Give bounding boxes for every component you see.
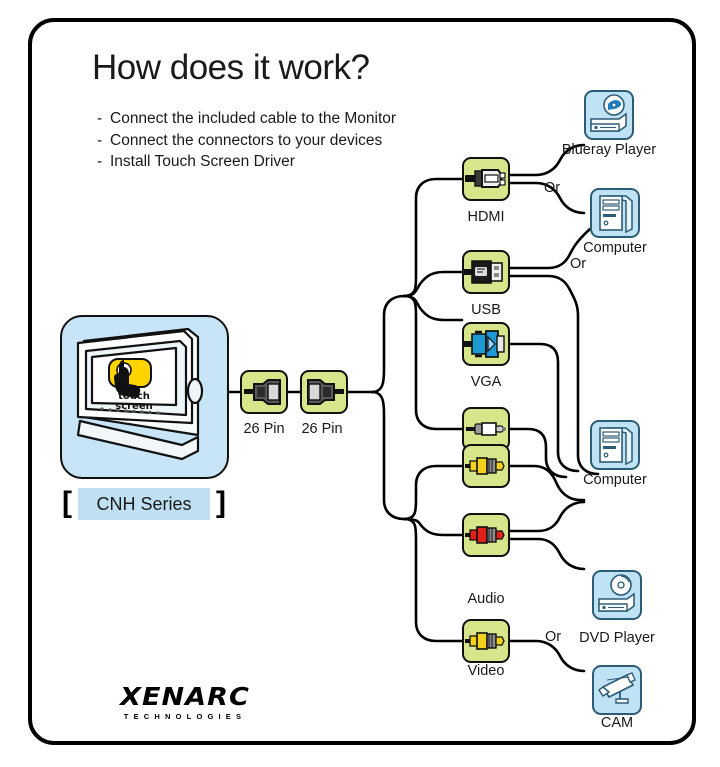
device-tile-cam[interactable] [592,665,642,715]
instruction-item: -Connect the included cable to the Monit… [97,108,396,130]
blueray-player-icon [586,92,632,138]
instruction-item: -Connect the connectors to your devices [97,130,396,152]
series-label-group: [ CNH Series ] [60,488,228,520]
connector-label-hdmi: HDMI [431,209,541,225]
series-label: CNH Series [60,488,228,520]
device-label-dvd-player: DVD Player [542,630,692,646]
device-tile-computer-2[interactable] [590,420,640,470]
hdmi-connector-icon [464,159,508,199]
connector-tile-usb[interactable] [462,250,510,294]
xenarc-logo: XENARC TECHNOLOGIES [100,682,270,721]
or-label-hdmi: Or [544,180,560,196]
dvd-player-icon [594,572,640,618]
touch-monitor-icon: touch screen [62,317,223,473]
logo-tagline: TECHNOLOGIES [100,712,270,721]
connector-tile-audio-red[interactable] [462,513,510,557]
rca-red-connector-icon [464,515,508,555]
or-label-video: Or [545,629,561,645]
logo-wordmark: XENARC [93,682,277,711]
rca-yellow-connector-icon [464,621,508,661]
connector-tile-video-yellow-1[interactable] [462,444,510,488]
or-label-usb: Or [570,256,586,272]
security-camera-icon [594,667,640,713]
connector-label-26pin-2: 26 Pin [267,421,377,437]
device-label-computer-2: Computer [540,472,690,488]
computer-tower-icon [592,422,638,468]
device-label-cam: CAM [542,715,692,731]
instruction-list: -Connect the included cable to the Monit… [97,108,396,173]
connector-tile-vga[interactable] [462,322,510,366]
page-title: How does it work? [92,48,369,88]
rca-yellow-connector-icon [464,446,508,486]
connector-tile-hdmi[interactable] [462,157,510,201]
connector-tile-26pin-2[interactable] [300,370,348,414]
device-label-computer-1: Computer [540,240,690,256]
instruction-item: -Install Touch Screen Driver [97,151,396,173]
usb-connector-icon [464,252,508,292]
connector-label-usb: USB [431,302,541,318]
bracket-right-icon: ] [216,487,226,519]
device-tile-blueray-player[interactable] [584,90,634,140]
device-tile-computer-1[interactable] [590,188,640,238]
connector-label-video-2: Video [431,663,541,679]
connector-tile-26pin-1[interactable] [240,370,288,414]
connector-tile-video-yellow-2[interactable] [462,619,510,663]
pin26-connector-icon [302,372,346,412]
vga-connector-icon [464,324,508,364]
computer-tower-icon [592,190,638,236]
pin26-connector-icon [242,372,286,412]
connector-label-vga: VGA [431,374,541,390]
monitor-illustration-panel: touch screen [60,315,229,479]
audio-jack-connector-icon [464,409,508,449]
device-tile-dvd-player[interactable] [592,570,642,620]
connector-label-audio-bottom: Audio [431,591,541,607]
device-label-blueray-player: Blueray Player [534,142,684,158]
